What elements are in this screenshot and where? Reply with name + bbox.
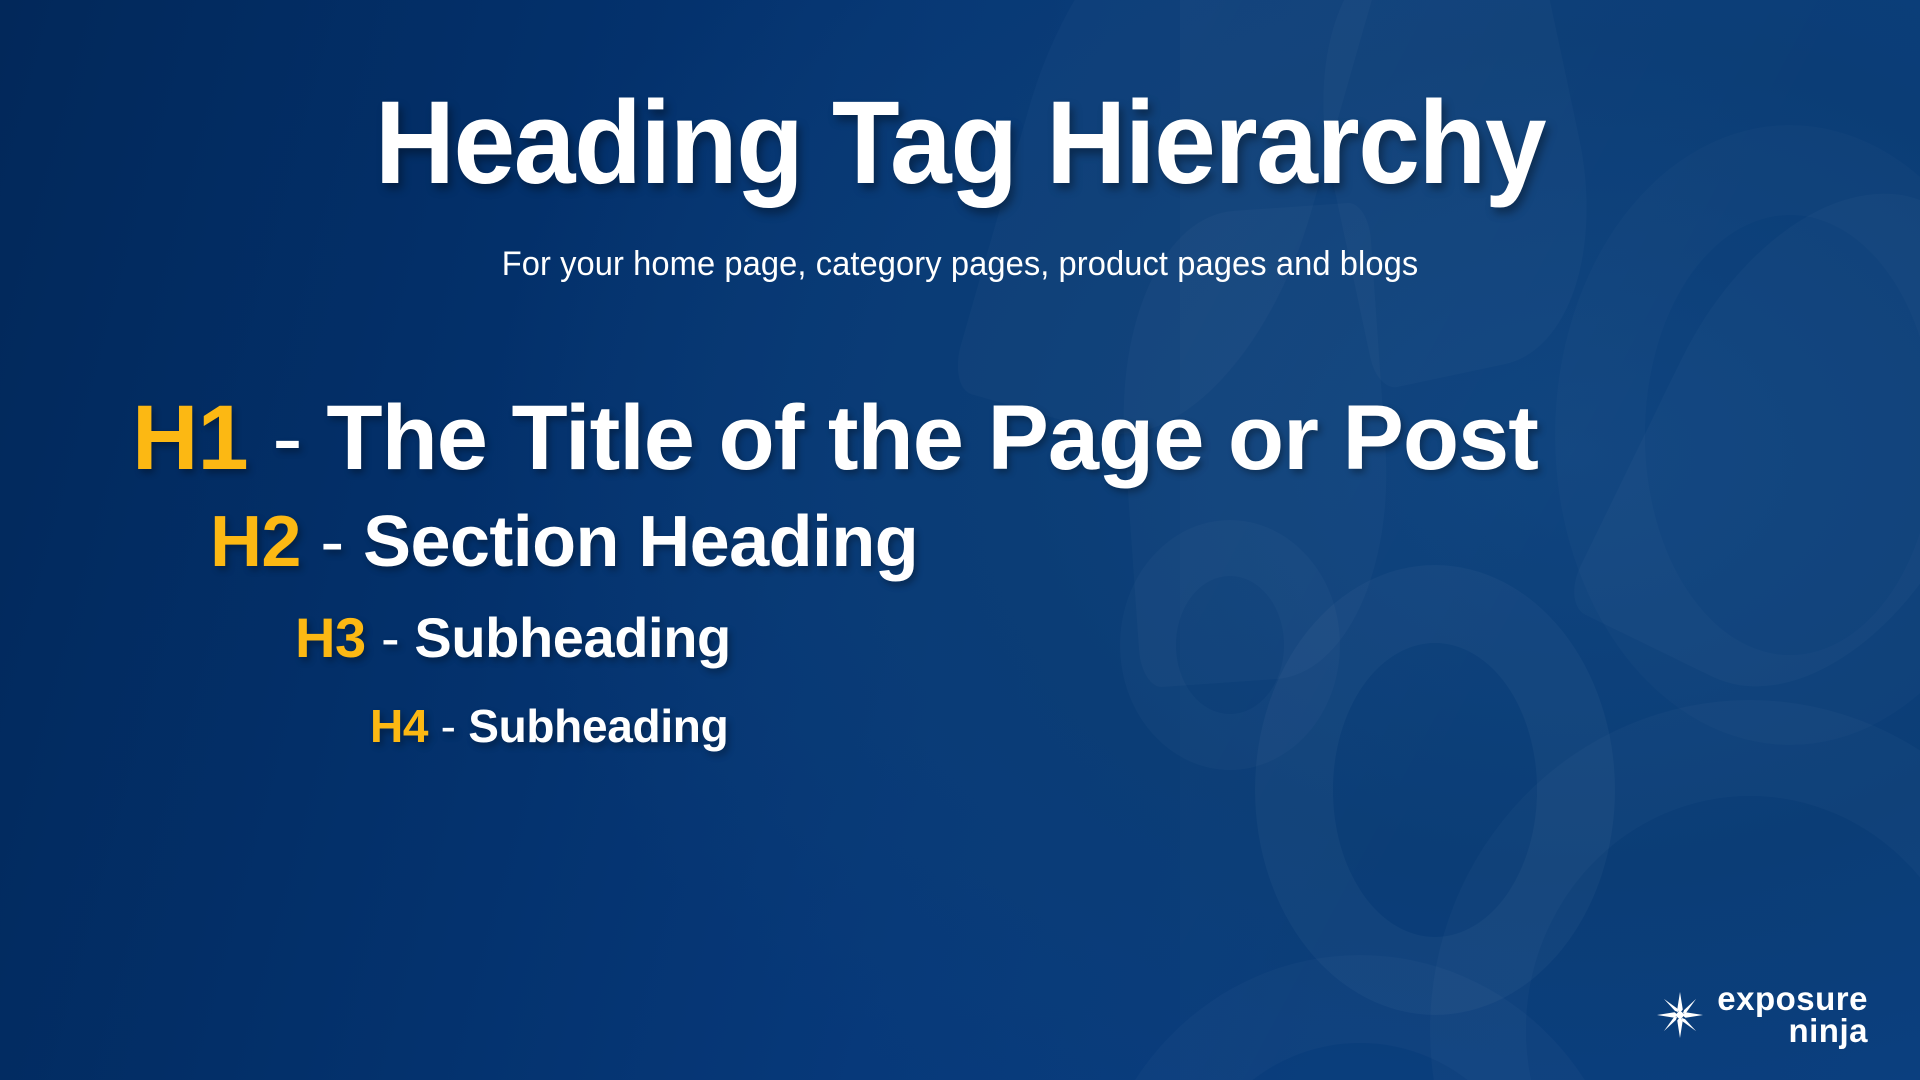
heading-tag-label-h3: H3 bbox=[295, 606, 366, 669]
logo-word-exposure: exposure bbox=[1717, 984, 1868, 1014]
heading-separator-h4: - bbox=[428, 700, 468, 752]
slide-title: Heading Tag Hierarchy bbox=[58, 82, 1863, 206]
heading-tag-label-h1: H1 bbox=[132, 387, 248, 489]
heading-separator-h3: - bbox=[366, 606, 415, 669]
hierarchy-row-h4: H4 - Subheading bbox=[370, 683, 1920, 769]
heading-tag-label-h4: H4 bbox=[370, 700, 428, 752]
hierarchy-row-h1: H1 - The Title of the Page or Post bbox=[132, 385, 1920, 492]
hierarchy-row-h2: H2 - Section Heading bbox=[210, 492, 1920, 593]
hierarchy-row-h3: H3 - Subheading bbox=[295, 593, 1920, 684]
logo-word-ninja: ninja bbox=[1788, 1016, 1868, 1046]
heading-description-h1: The Title of the Page or Post bbox=[326, 387, 1537, 489]
slide-subtitle: For your home page, category pages, prod… bbox=[38, 245, 1881, 284]
heading-description-h2: Section Heading bbox=[363, 502, 918, 582]
exposure-ninja-logo: exposure ninja bbox=[1657, 984, 1868, 1046]
heading-tag-label-h2: H2 bbox=[210, 502, 301, 582]
heading-separator-h1: - bbox=[248, 387, 327, 489]
heading-hierarchy-list: H1 - The Title of the Page or Post H2 - … bbox=[0, 385, 1920, 770]
heading-separator-h2: - bbox=[301, 502, 363, 582]
heading-description-h3: Subheading bbox=[414, 606, 730, 669]
heading-description-h4: Subheading bbox=[468, 700, 728, 752]
logo-wordmark: exposure ninja bbox=[1717, 984, 1868, 1046]
shuriken-star-icon bbox=[1657, 992, 1703, 1038]
